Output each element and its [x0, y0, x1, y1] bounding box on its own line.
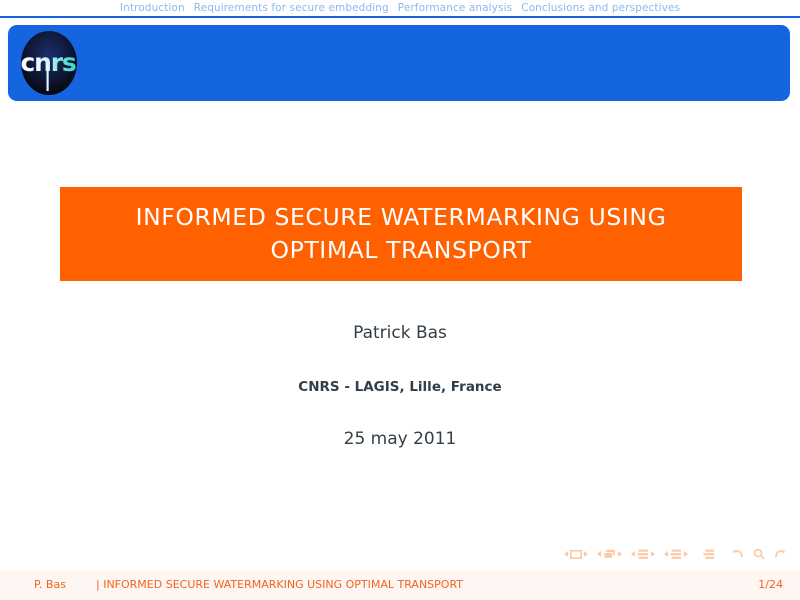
nav-item-introduction[interactable]: Introduction — [120, 2, 185, 14]
previous-subsection-icon[interactable] — [631, 551, 635, 557]
subsection-navigation-group — [631, 549, 655, 560]
document-icon[interactable] — [703, 549, 715, 560]
previous-frame-icon[interactable] — [597, 551, 601, 557]
title-line-2: OPTIMAL TRANSPORT — [270, 234, 531, 267]
search-icon[interactable] — [753, 548, 765, 560]
next-section-icon[interactable] — [684, 551, 688, 557]
previous-section-icon[interactable] — [664, 551, 668, 557]
section-icon[interactable] — [670, 549, 682, 560]
cnrs-logo: cnrs — [17, 29, 81, 97]
nav-item-conclusions-and-perspectives[interactable]: Conclusions and perspectives — [521, 2, 680, 14]
navigation-underline-rule — [0, 16, 800, 18]
footer-page-number: 1/24 — [758, 578, 783, 592]
nav-item-performance-analysis[interactable]: Performance analysis — [398, 2, 512, 14]
previous-slide-icon[interactable] — [564, 551, 568, 557]
nav-item-requirements-for-secure-embedding[interactable]: Requirements for secure embedding — [194, 2, 389, 14]
frame-icon[interactable] — [603, 549, 616, 560]
presentation-date: 25 may 2011 — [0, 428, 800, 450]
slide-navigation-group — [564, 550, 588, 559]
subsection-icon[interactable] — [637, 549, 649, 560]
section-navigation-bar: Introduction Requirements for secure emb… — [0, 0, 800, 16]
back-icon[interactable] — [732, 548, 744, 560]
section-navigation-group — [664, 549, 688, 560]
header-banner: cnrs — [8, 25, 790, 101]
footer-title: | INFORMED SECURE WATERMARKING USING OPT… — [96, 578, 463, 592]
footer-author: P. Bas — [34, 578, 66, 592]
next-slide-icon[interactable] — [584, 551, 588, 557]
author-name: Patrick Bas — [0, 322, 800, 344]
slide-icon[interactable] — [570, 550, 582, 559]
next-subsection-icon[interactable] — [651, 551, 655, 557]
next-frame-icon[interactable] — [618, 551, 622, 557]
beamer-navigation-symbols — [564, 544, 786, 564]
frame-navigation-group — [597, 549, 622, 560]
forward-icon[interactable] — [774, 548, 786, 560]
title-block: INFORMED SECURE WATERMARKING USING OPTIM… — [60, 187, 742, 281]
institute-affiliation: CNRS - LAGIS, Lille, France — [0, 378, 800, 396]
title-line-1: INFORMED SECURE WATERMARKING USING — [136, 201, 667, 234]
